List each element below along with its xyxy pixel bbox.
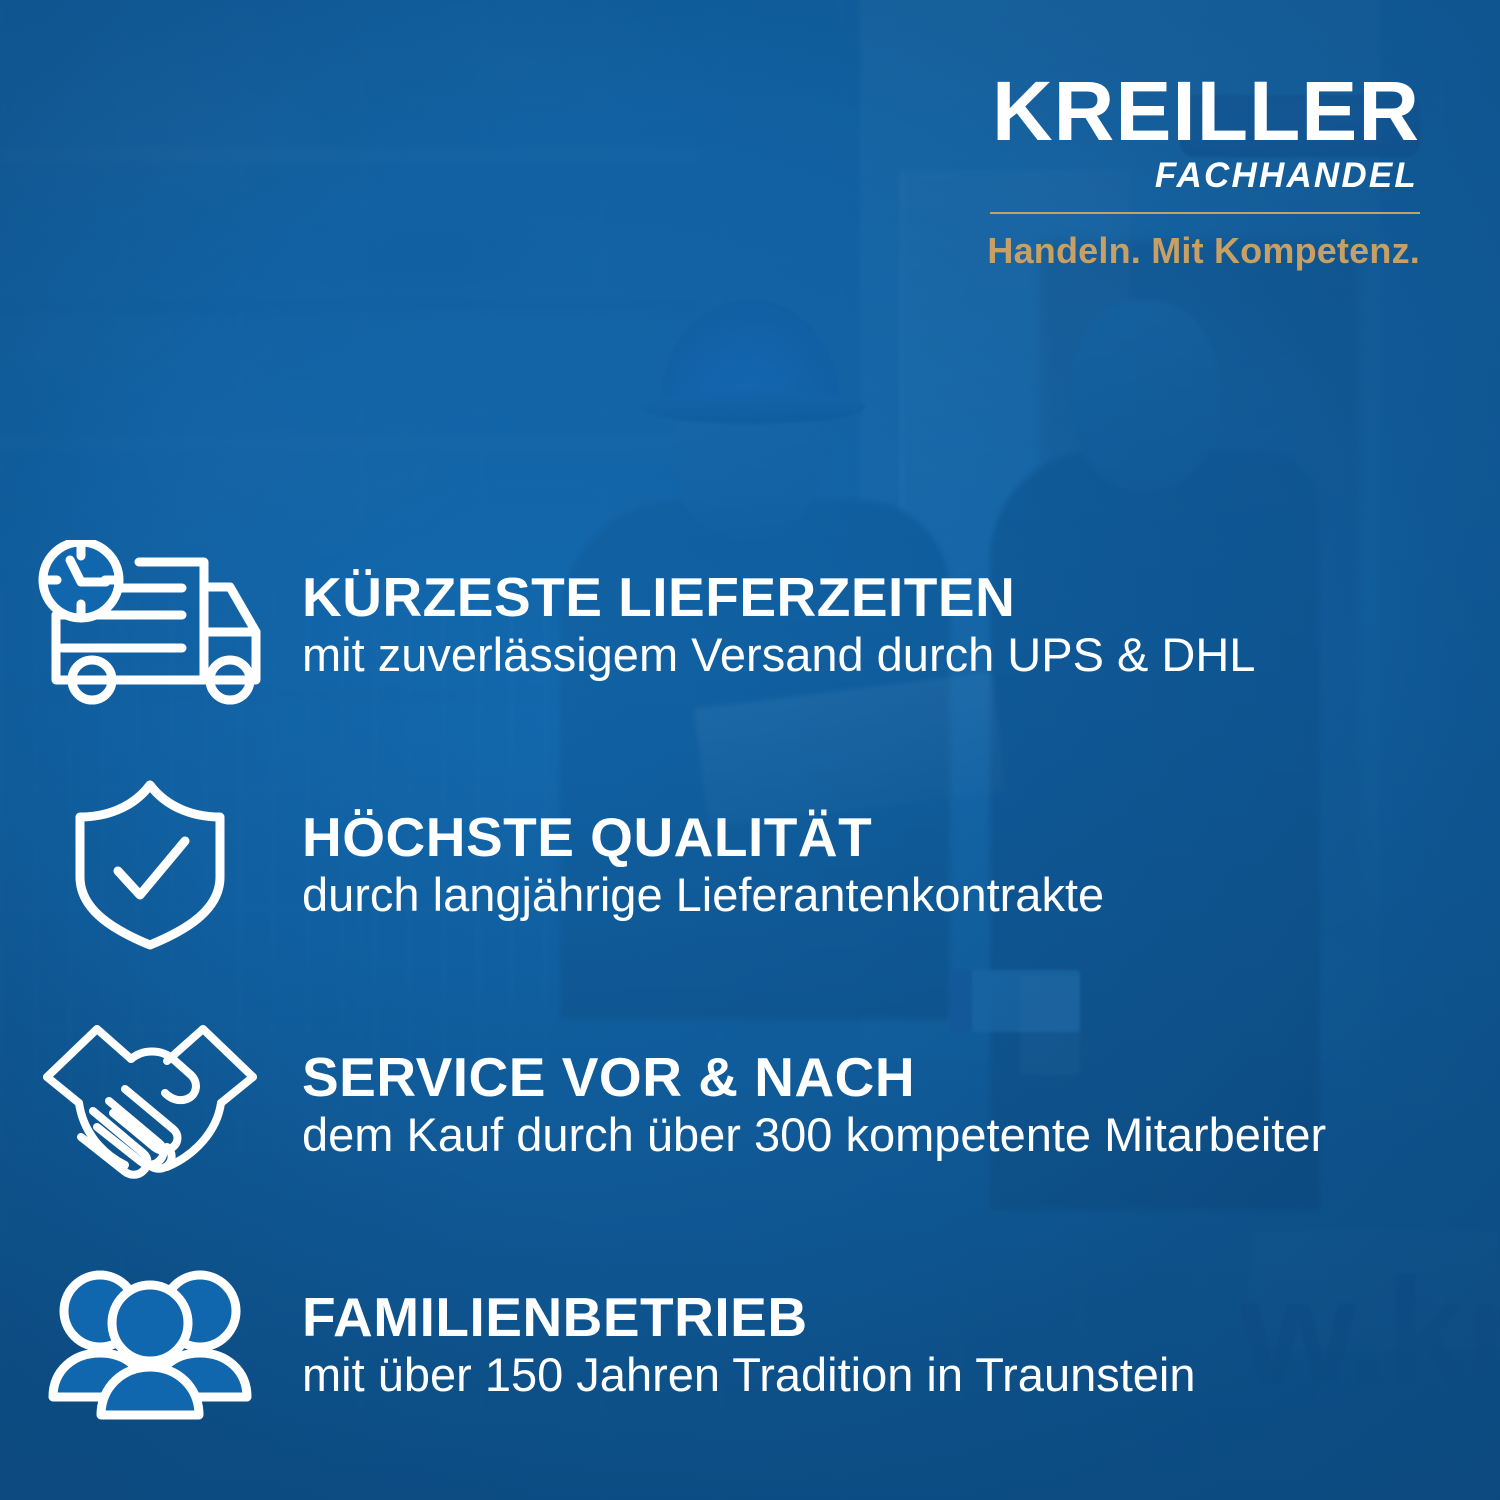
feature-title: SERVICE VOR & NACH <box>302 1049 1326 1106</box>
brand-name: KREILLER <box>987 72 1420 152</box>
people-group-icon <box>0 1267 300 1423</box>
feature-text-family: FAMILIENBETRIEB mit über 150 Jahren Trad… <box>300 1289 1196 1401</box>
feature-title: KÜRZESTE LIEFERZEITEN <box>302 569 1255 626</box>
feature-title: HÖCHSTE QUALITÄT <box>302 809 1104 866</box>
logo-divider <box>990 212 1420 214</box>
feature-text-service: SERVICE VOR & NACH dem Kauf durch über 3… <box>300 1049 1326 1161</box>
feature-subtitle: durch langjährige Lieferantenkontrakte <box>302 870 1104 921</box>
feature-row-service: SERVICE VOR & NACH dem Kauf durch über 3… <box>0 985 1500 1225</box>
brand-subtitle: FACHHANDEL <box>987 156 1418 196</box>
feature-subtitle: mit über 150 Jahren Tradition in Traunst… <box>302 1350 1196 1401</box>
feature-subtitle: mit zuverlässigem Versand durch UPS & DH… <box>302 630 1255 681</box>
feature-row-delivery: KÜRZESTE LIEFERZEITEN mit zuverlässigem … <box>0 505 1500 745</box>
feature-subtitle: dem Kauf durch über 300 kompetente Mitar… <box>302 1110 1326 1161</box>
feature-row-quality: HÖCHSTE QUALITÄT durch langjährige Liefe… <box>0 745 1500 985</box>
promo-banner: w.kr KREILLER FACHHANDEL Handeln. Mit Ko… <box>0 0 1500 1500</box>
delivery-truck-clock-icon <box>0 540 300 710</box>
handshake-icon <box>0 1015 300 1195</box>
brand-logo: KREILLER FACHHANDEL Handeln. Mit Kompete… <box>987 72 1420 272</box>
feature-text-quality: HÖCHSTE QUALITÄT durch langjährige Liefe… <box>300 809 1104 921</box>
feature-row-family: FAMILIENBETRIEB mit über 150 Jahren Trad… <box>0 1225 1500 1465</box>
feature-text-delivery: KÜRZESTE LIEFERZEITEN mit zuverlässigem … <box>300 569 1255 681</box>
feature-title: FAMILIENBETRIEB <box>302 1289 1196 1346</box>
shield-check-icon <box>0 779 300 951</box>
feature-list: KÜRZESTE LIEFERZEITEN mit zuverlässigem … <box>0 505 1500 1465</box>
brand-claim: Handeln. Mit Kompetenz. <box>987 230 1420 272</box>
